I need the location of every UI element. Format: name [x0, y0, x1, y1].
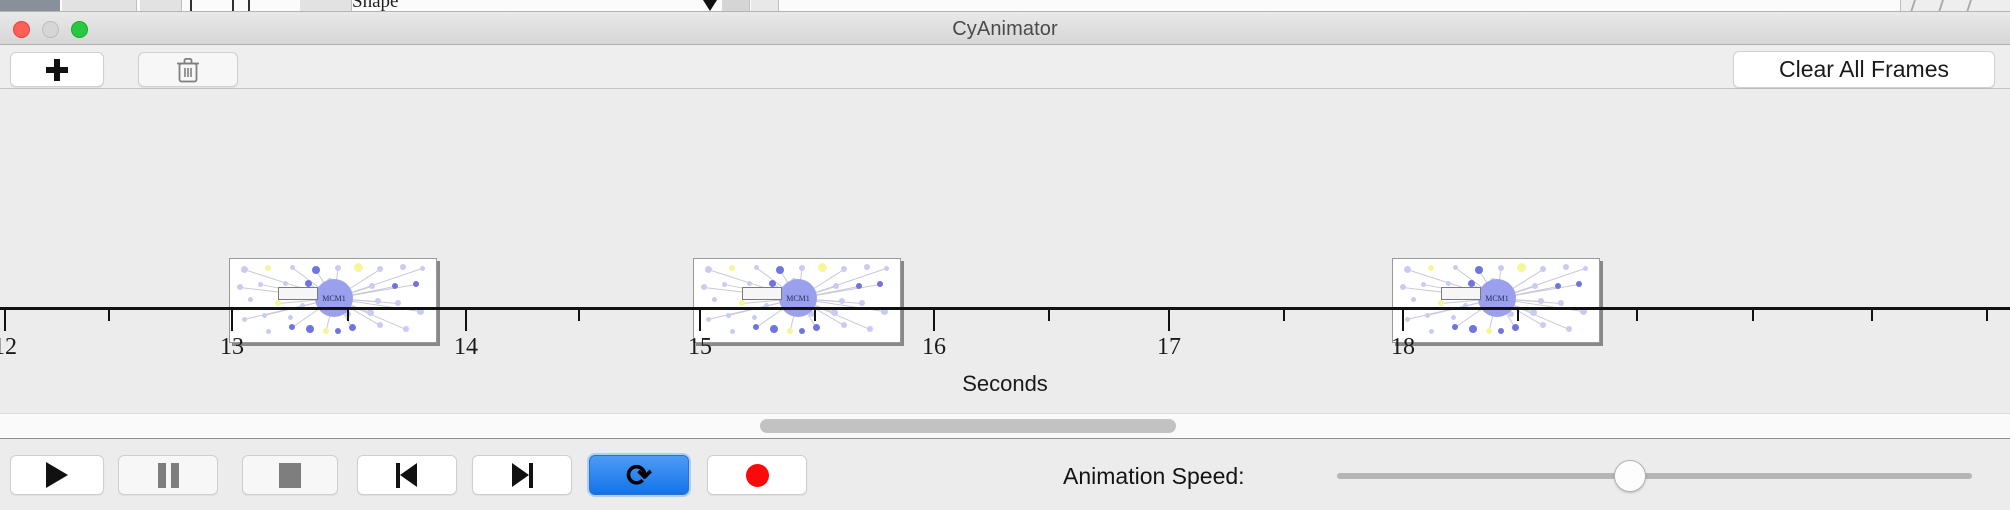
timeline-ruler: 12131415161718 — [0, 307, 2010, 367]
network-node — [799, 265, 805, 271]
clear-all-frames-label: Clear All Frames — [1779, 56, 1949, 83]
network-node — [400, 264, 406, 270]
network-node — [1400, 284, 1406, 290]
network-node — [856, 283, 862, 289]
network-node — [859, 300, 865, 306]
network-node — [377, 266, 383, 272]
background-tick — [248, 0, 250, 12]
network-node — [305, 280, 312, 287]
network-node — [290, 265, 295, 270]
network-node — [369, 283, 375, 289]
network-node — [841, 266, 847, 272]
animation-speed-label: Animation Speed: — [1063, 463, 1245, 490]
background-chip — [751, 0, 779, 12]
network-node — [1453, 265, 1458, 270]
network-node — [375, 298, 381, 304]
background-chip — [140, 0, 182, 12]
network-node — [747, 281, 752, 286]
stop-icon — [279, 463, 301, 488]
network-node — [1538, 298, 1544, 304]
network-node — [283, 281, 288, 286]
network-node — [275, 300, 281, 306]
animation-speed-slider[interactable] — [1337, 473, 1972, 479]
network-node — [839, 298, 845, 304]
network-node — [1563, 264, 1569, 270]
network-node — [884, 266, 889, 271]
network-node — [354, 263, 363, 272]
cyanimator-window: Shape CyAnimator Cl — [0, 0, 2010, 510]
ruler-tick-label: 17 — [1157, 334, 1181, 361]
network-node — [392, 283, 398, 289]
ruler-tick — [1283, 310, 1285, 321]
network-node — [1517, 263, 1526, 272]
timeline-panel[interactable]: MCM1MCM1MCM1 12131415161718 Seconds — [0, 89, 2010, 413]
ruler-tick — [578, 310, 580, 321]
network-node — [1428, 265, 1434, 271]
pause-icon — [158, 463, 179, 488]
slider-thumb[interactable] — [1614, 460, 1646, 492]
network-annotation-box — [742, 287, 782, 300]
ruler-tick — [1517, 310, 1519, 321]
network-annotation-box — [1441, 287, 1481, 300]
play-button[interactable] — [10, 455, 104, 495]
ruler-tick — [108, 310, 110, 321]
network-node — [864, 264, 870, 270]
axis-title: Seconds — [0, 371, 2010, 397]
ruler-tick — [699, 310, 701, 331]
background-caret-icon — [703, 0, 717, 11]
network-node — [769, 280, 776, 287]
network-node — [705, 266, 712, 273]
skip-to-start-button[interactable] — [357, 455, 457, 495]
skip-end-icon — [511, 463, 533, 488]
background-window-label: Shape — [352, 0, 398, 12]
skip-to-end-button[interactable] — [472, 455, 572, 495]
ruler-tick — [933, 310, 935, 331]
ruler-tick — [1168, 310, 1170, 331]
background-chip — [300, 0, 352, 12]
background-chip — [722, 0, 750, 12]
network-node — [312, 266, 320, 274]
network-node — [420, 266, 425, 271]
network-node — [258, 282, 263, 287]
network-node — [237, 284, 243, 290]
ruler-tick — [1636, 310, 1638, 321]
network-node — [722, 282, 727, 287]
slider-track[interactable] — [1337, 473, 1972, 479]
ruler-tick — [465, 310, 467, 331]
network-node — [712, 297, 717, 302]
ruler-tick — [231, 310, 233, 331]
network-node — [1498, 265, 1504, 271]
network-node — [1438, 300, 1444, 306]
play-icon — [46, 462, 68, 488]
network-node — [395, 300, 401, 306]
ruler-tick — [1986, 310, 1988, 321]
skip-start-icon — [396, 463, 418, 488]
network-node — [1532, 283, 1538, 289]
ruler-tick-label: 15 — [688, 334, 712, 361]
network-node — [833, 283, 839, 289]
add-frame-button[interactable] — [10, 52, 104, 87]
network-node — [1446, 281, 1451, 286]
network-node — [701, 284, 707, 290]
record-button[interactable] — [707, 455, 807, 495]
network-node — [1404, 266, 1411, 273]
scrollbar-thumb[interactable] — [760, 419, 1176, 433]
network-node — [1411, 297, 1416, 302]
clear-all-frames-button[interactable]: Clear All Frames — [1733, 51, 1995, 88]
background-chip — [62, 0, 137, 12]
network-node — [1468, 280, 1475, 287]
network-node — [265, 265, 271, 271]
ruler-tick-label: 16 — [922, 334, 946, 361]
background-window-sliver: Shape — [0, 0, 2010, 12]
loop-icon: ⟳ — [626, 460, 652, 491]
delete-frame-button[interactable] — [138, 52, 238, 87]
ruler-tick-label: 14 — [454, 334, 478, 361]
network-node — [776, 266, 784, 274]
ruler-tick — [1752, 310, 1754, 321]
ruler-tick-label: 12 — [0, 334, 17, 361]
timeline-scrollbar[interactable] — [0, 413, 2010, 439]
network-node — [1558, 300, 1564, 306]
network-node — [413, 281, 419, 287]
network-node — [1475, 266, 1483, 274]
loop-button[interactable]: ⟳ — [589, 455, 689, 495]
trash-icon — [175, 56, 201, 84]
stop-button[interactable] — [242, 455, 338, 495]
ruler-tick — [1048, 310, 1050, 321]
network-node — [335, 265, 341, 271]
background-window-tab — [0, 0, 60, 12]
network-node — [877, 281, 883, 287]
network-annotation-box — [278, 287, 318, 300]
network-node — [1555, 283, 1561, 289]
background-tick — [190, 0, 192, 12]
title-bar: CyAnimator — [0, 12, 2010, 45]
playback-controls: ⟳ Animation Speed: — [0, 440, 2010, 510]
ruler-tick — [4, 310, 6, 331]
ruler-tick — [1402, 310, 1404, 331]
network-node — [729, 265, 735, 271]
record-icon — [746, 464, 769, 487]
pause-button[interactable] — [118, 455, 218, 495]
plus-icon — [46, 59, 68, 81]
background-tick — [232, 0, 234, 12]
network-node — [1583, 266, 1588, 271]
ruler-tick — [814, 310, 816, 321]
network-node — [754, 265, 759, 270]
network-node — [1421, 282, 1426, 287]
window-title: CyAnimator — [0, 18, 2010, 41]
network-node — [1540, 266, 1546, 272]
network-node — [818, 263, 827, 272]
network-node — [1576, 281, 1582, 287]
ruler-tick-label: 13 — [220, 334, 244, 361]
ruler-tick — [347, 310, 349, 321]
network-node — [241, 266, 248, 273]
ruler-axis-line — [0, 307, 2010, 310]
network-node — [739, 300, 745, 306]
frames-track: MCM1MCM1MCM1 — [0, 89, 2010, 307]
ruler-tick-label: 18 — [1391, 334, 1415, 361]
ruler-tick — [1871, 310, 1873, 321]
frames-toolbar: Clear All Frames — [0, 45, 2010, 89]
network-node — [248, 297, 253, 302]
